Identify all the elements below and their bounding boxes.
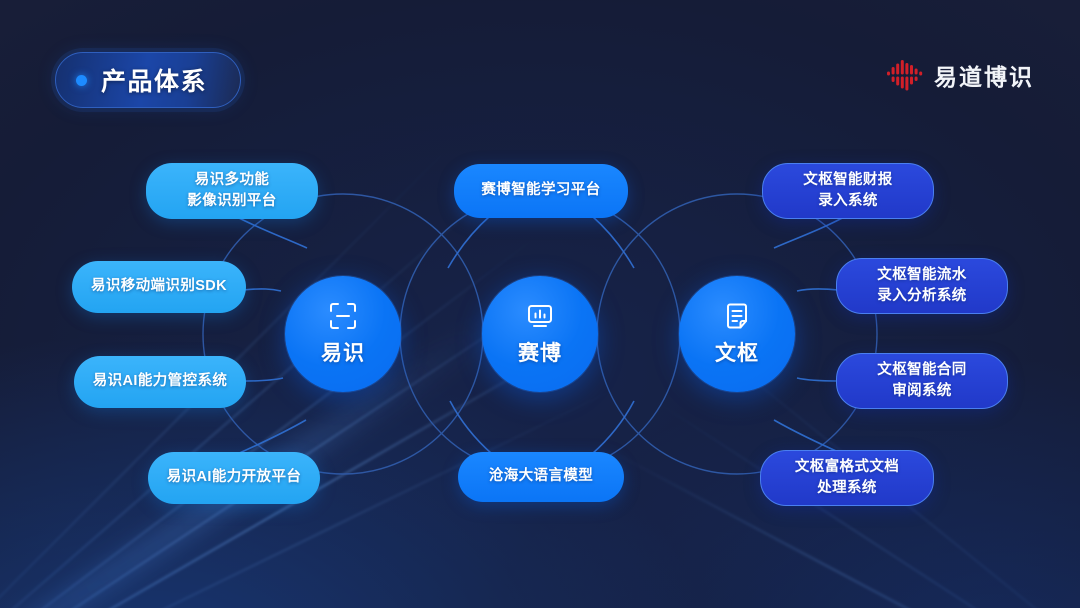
node-wenshu-contract[interactable]: 文枢智能合同 审阅系统 <box>836 353 1008 409</box>
node-line: 赛博智能学习平台 <box>481 180 600 201</box>
bullet-dot-icon <box>76 75 87 86</box>
waveform-logo-icon <box>887 58 923 92</box>
node-yishi-ai-control[interactable]: 易识AI能力管控系统 <box>74 356 246 408</box>
connector-saibo-2a <box>450 401 492 454</box>
node-line: 易识移动端识别SDK <box>91 276 227 297</box>
monitor-chart-icon <box>525 301 555 331</box>
node-wenshu-richdoc[interactable]: 文枢富格式文档 处理系统 <box>760 450 934 506</box>
node-yishi-ai-open[interactable]: 易识AI能力开放平台 <box>148 452 320 504</box>
node-line: 易识AI能力开放平台 <box>167 467 302 488</box>
node-line: 易识AI能力管控系统 <box>93 371 228 392</box>
scan-frame-icon <box>328 301 358 331</box>
node-line: 易识多功能 <box>195 170 270 191</box>
node-line: 审阅系统 <box>892 381 952 402</box>
slide-canvas: 产品体系 <box>0 0 1080 608</box>
node-line: 文枢智能流水 <box>877 265 966 286</box>
node-line: 影像识别平台 <box>187 191 276 212</box>
connector-saibo-2b <box>592 401 634 454</box>
node-canghai-llm[interactable]: 沧海大语言模型 <box>458 452 624 502</box>
node-wenshu-statement[interactable]: 文枢智能流水 录入分析系统 <box>836 258 1008 314</box>
connector-wenshu-3 <box>797 378 838 381</box>
node-yishi-imaging[interactable]: 易识多功能 影像识别平台 <box>146 163 318 219</box>
hub-label-saibo: 赛博 <box>518 337 562 367</box>
connector-saibo-1b <box>592 216 634 268</box>
hub-saibo[interactable]: 赛博 <box>482 276 598 392</box>
node-yishi-mobile-sdk[interactable]: 易识移动端识别SDK <box>72 261 246 313</box>
node-line: 处理系统 <box>817 478 877 499</box>
node-wenshu-finreport[interactable]: 文枢智能财报 录入系统 <box>762 163 934 219</box>
node-line: 录入系统 <box>818 191 878 212</box>
page-title-badge: 产品体系 <box>55 52 241 108</box>
node-line: 文枢智能合同 <box>877 360 966 381</box>
node-saibo-learning[interactable]: 赛博智能学习平台 <box>454 164 628 218</box>
node-line: 录入分析系统 <box>877 286 966 307</box>
connector-saibo-1a <box>448 216 490 268</box>
node-line: 文枢富格式文档 <box>795 457 899 478</box>
hub-yishi[interactable]: 易识 <box>285 276 401 392</box>
page-title: 产品体系 <box>101 62 207 98</box>
hub-wenshu[interactable]: 文枢 <box>679 276 795 392</box>
brand-name: 易道博识 <box>934 58 1034 92</box>
brand-logo: 易道博识 <box>887 58 1034 92</box>
hub-label-wenshu: 文枢 <box>715 337 759 367</box>
document-icon <box>722 301 752 331</box>
connector-yishi-4 <box>235 420 306 455</box>
connector-yishi-1 <box>233 215 307 248</box>
connector-wenshu-2 <box>797 289 838 291</box>
connector-yishi-3 <box>245 378 283 381</box>
hub-label-yishi: 易识 <box>321 337 365 367</box>
connector-wenshu-1 <box>774 215 848 248</box>
connector-yishi-2 <box>243 289 281 291</box>
node-line: 沧海大语言模型 <box>489 466 593 487</box>
node-line: 文枢智能财报 <box>803 170 892 191</box>
